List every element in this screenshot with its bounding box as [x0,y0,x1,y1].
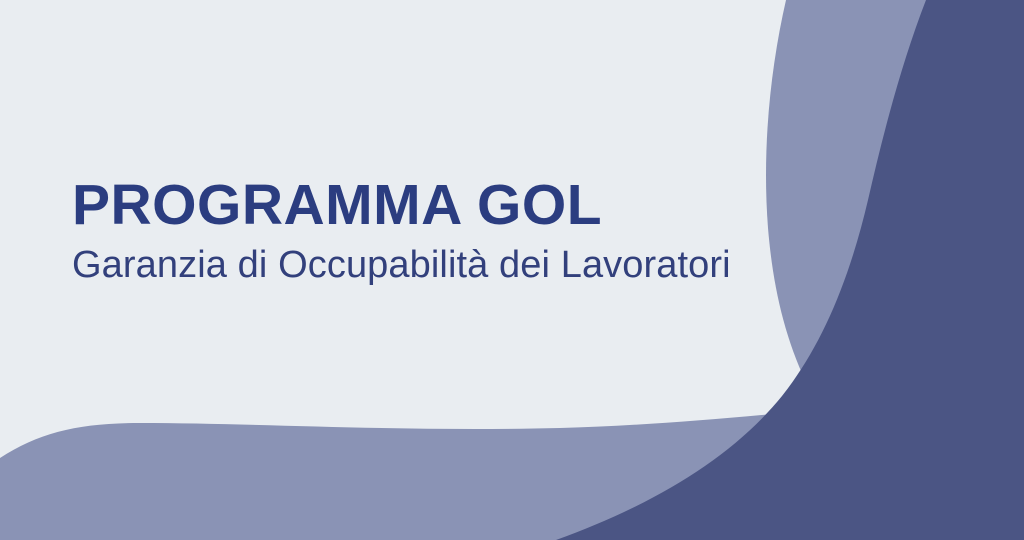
programma-gol-banner: PROGRAMMA GOL Garanzia di Occupabilità d… [0,0,1024,540]
banner-text-block: PROGRAMMA GOL Garanzia di Occupabilità d… [72,176,731,286]
page-title: PROGRAMMA GOL [72,176,731,234]
page-subtitle: Garanzia di Occupabilità dei Lavoratori [72,234,731,286]
